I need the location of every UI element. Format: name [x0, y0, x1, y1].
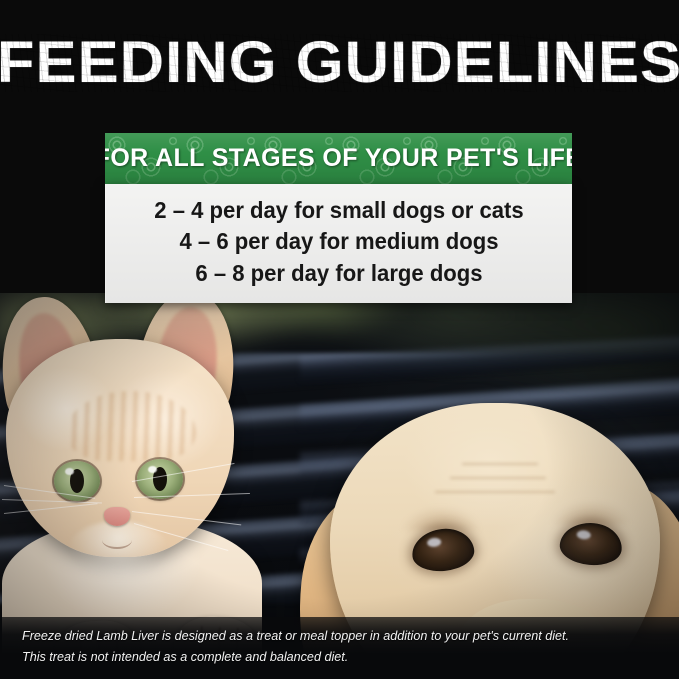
cat-eye-right [137, 459, 183, 499]
feeding-amounts-card: 2 – 4 per day for small dogs or cats 4 –… [105, 184, 572, 303]
disclaimer-bar: Freeze dried Lamb Liver is designed as a… [0, 617, 679, 679]
dog-eye-glint [427, 537, 442, 547]
dog-brow-right [552, 501, 630, 525]
dog-wrinkle [450, 477, 546, 479]
dog-brow-left [402, 507, 480, 531]
dog-eye-glint [576, 530, 591, 540]
life-stages-banner-text: FOR ALL STAGES OF YOUR PET'S LIFE [105, 133, 572, 184]
cat-forehead-stripes [66, 391, 196, 461]
feeding-line-small: 2 – 4 per day for small dogs or cats [115, 195, 562, 226]
cat-muzzle [68, 521, 168, 579]
cat-head [6, 339, 234, 557]
cat-eye-left [54, 461, 100, 501]
life-stages-banner: FOR ALL STAGES OF YOUR PET'S LIFE [105, 133, 572, 184]
disclaimer-line-1: Freeze dried Lamb Liver is designed as a… [0, 617, 679, 647]
feeding-line-medium: 4 – 6 per day for medium dogs [115, 226, 562, 257]
dog-wrinkle [462, 463, 538, 465]
feeding-line-large: 6 – 8 per day for large dogs [115, 258, 562, 289]
cat-eye-glint [148, 466, 157, 473]
cat-eye-glint [65, 468, 74, 475]
cat-mouth [102, 531, 132, 549]
page-title-text: FEEDING GUIDELINES [0, 30, 679, 95]
feeding-guidelines-graphic: FEEDING GUIDELINES FOR ALL STAGES OF YOU… [0, 0, 679, 679]
dog-eye-left [410, 526, 476, 574]
page-title: FEEDING GUIDELINES [0, 34, 679, 92]
dog-wrinkle [435, 491, 555, 493]
disclaimer-line-2: This treat is not intended as a complete… [0, 647, 679, 668]
dog-eye-right [558, 520, 623, 567]
guidelines-panel: FOR ALL STAGES OF YOUR PET'S LIFE 2 – 4 … [105, 133, 572, 303]
